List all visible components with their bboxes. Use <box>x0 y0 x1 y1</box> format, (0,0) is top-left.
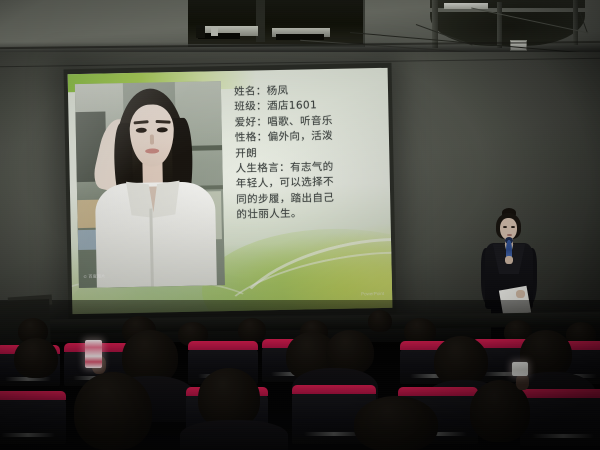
wall-plate-light <box>211 26 218 36</box>
audience-head <box>368 310 392 332</box>
ceiling-beam-1 <box>432 0 438 48</box>
auditorium-seat[interactable] <box>0 398 66 444</box>
ceiling-light-strip <box>444 3 488 9</box>
student-portrait-photo: © 百度图片 <box>75 81 225 288</box>
audience-hand-right <box>516 374 529 390</box>
audience-shoulders <box>180 420 288 450</box>
photo-watermark: © 百度图片 <box>84 274 106 280</box>
presenter-hand-on-paper <box>516 290 525 298</box>
presenter-eye-left <box>503 226 507 228</box>
projection-screen: © 百度图片 姓名：杨凤 班级：酒店1601 爱好：唱歌、听音乐 性格：偏外向，… <box>64 63 397 320</box>
wall-plate-dark <box>196 25 205 38</box>
audience-head <box>14 338 58 378</box>
presenter-eye-right <box>511 226 515 228</box>
ceiling-beam-3 <box>573 0 578 45</box>
pink-phone[interactable] <box>85 340 102 368</box>
audience-head <box>434 336 488 386</box>
ceiling-region <box>0 0 600 58</box>
audience-head <box>238 318 266 342</box>
slide-corner-mark: PowerPoint <box>361 291 384 296</box>
auditorium-photo: © 百度图片 姓名：杨凤 班级：酒店1601 爱好：唱歌、听音乐 性格：偏外向，… <box>0 0 600 450</box>
audience-head <box>198 368 260 428</box>
presenter-hand-on-mic <box>505 256 513 264</box>
photo-projector-glare <box>75 81 225 288</box>
presenter-mouth <box>507 234 512 236</box>
white-phone[interactable] <box>512 362 528 376</box>
auditorium-seat[interactable] <box>520 396 600 446</box>
audience-head <box>74 372 152 450</box>
presentation-slide: © 百度图片 姓名：杨凤 班级：酒店1601 爱好：唱歌、听音乐 性格：偏外向，… <box>68 68 393 314</box>
audience-head <box>354 396 438 450</box>
slide-line-motto-4: 的壮丽人生。 <box>236 205 386 223</box>
slide-text-block: 姓名：杨凤 班级：酒店1601 爱好：唱歌、听音乐 性格：偏外向，活泼 开朗 人… <box>234 82 387 224</box>
